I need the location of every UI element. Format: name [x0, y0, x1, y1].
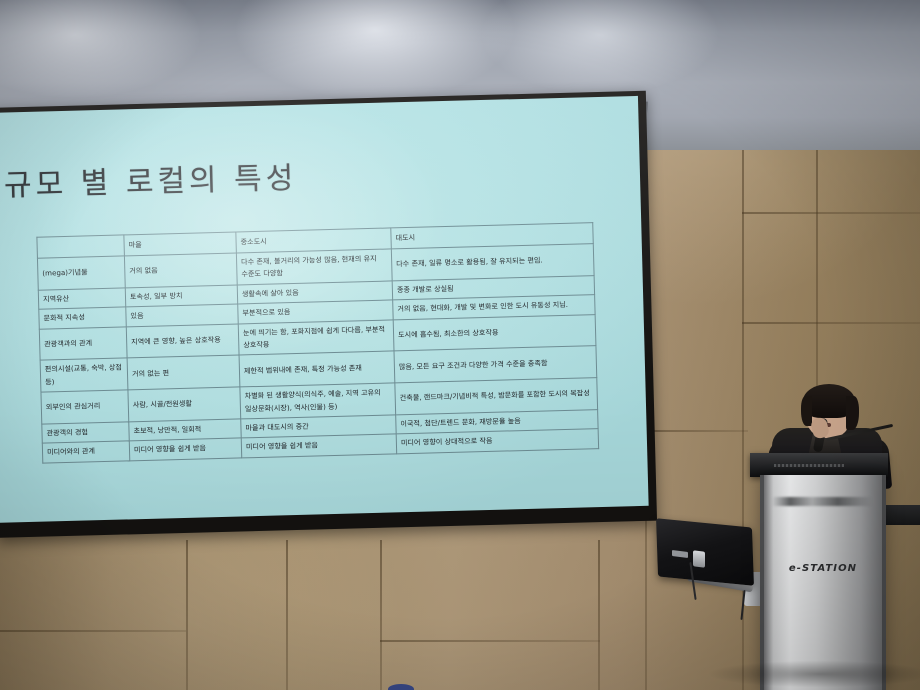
row-label: (mega)기념물	[37, 256, 125, 290]
row-label: 지역유산	[38, 288, 125, 310]
presenter-monitor	[656, 518, 754, 586]
cell-bigcity: 다수 존재, 일류 명소로 활용됨, 잘 유지되는 편임.	[391, 244, 594, 281]
podium-top-surface	[750, 453, 888, 477]
wall-seam	[742, 322, 920, 324]
cell-midcity: 미디어 영향을 쉽게 받음	[241, 434, 396, 457]
foreground-object	[388, 684, 414, 690]
wall-seam	[380, 540, 382, 690]
cell-midcity: 제한적 범위내에 존재, 특정 가능성 존재	[239, 351, 395, 387]
speaker-hair-side	[801, 396, 812, 426]
wall-seam	[0, 630, 186, 632]
cell-bigcity: 도시에 흡수됨, 최소한의 상호작용	[393, 314, 596, 351]
row-label: 미디어와의 관계	[42, 441, 129, 463]
cell-village: 사람, 시골/전원생활	[128, 387, 241, 422]
podium-reflection	[772, 497, 872, 506]
wall-seam	[742, 212, 920, 214]
cell-bigcity: 건축물, 랜드마크/기념비적 특성, 밤문화를 포함한 도시의 복잡성	[395, 378, 598, 415]
wall-seam	[286, 540, 288, 690]
floor-shadow	[700, 660, 920, 690]
cell-midcity: 눈에 띄기는 함, 포화지점에 쉽게 다다름, 부분적 상호작용	[238, 320, 394, 356]
podium: e-STATION	[760, 475, 886, 690]
cell-village: 지역에 큰 영향, 높은 상호작용	[126, 324, 239, 359]
row-label: 편의시설(교통, 숙박, 상점 등)	[40, 358, 128, 392]
row-label: 관광객과의 관계	[39, 327, 127, 361]
cell-village: 거의 없는 편	[127, 355, 240, 390]
lecture-hall-scene: 규모 별 로컬의 특성 마을 중소도시 대도시 (mega)기념물 거의 없음 …	[0, 0, 920, 690]
speaker-hair-side	[846, 396, 859, 430]
cell-bigcity: 미디어 영향이 상대적으로 작음	[396, 429, 598, 454]
wall-seam	[186, 540, 188, 690]
slide-title: 규모 별 로컬의 특성	[3, 153, 297, 205]
wall-seam	[598, 540, 600, 690]
row-label: 외부인의 관심거리	[41, 390, 129, 424]
monitor-control-box	[693, 550, 705, 567]
slide-table: 마을 중소도시 대도시 (mega)기념물 거의 없음 다수 존재, 볼거리의 …	[36, 222, 599, 463]
podium-top-vent	[774, 464, 844, 467]
row-label: 관광객의 경험	[42, 422, 129, 444]
cell-village: 거의 없음	[124, 253, 237, 288]
podium-brand-label: e-STATION	[764, 563, 882, 574]
header-cell-blank	[37, 235, 125, 258]
cell-bigcity: 많음, 모든 요구 조건과 다양한 가격 수준을 충족함	[394, 346, 597, 383]
wall-seam	[380, 640, 600, 642]
presentation-slide: 규모 별 로컬의 특성 마을 중소도시 대도시 (mega)기념물 거의 없음 …	[0, 96, 649, 523]
header-cell-village: 마을	[124, 232, 237, 256]
projection-screen: 규모 별 로컬의 특성 마을 중소도시 대도시 (mega)기념물 거의 없음 …	[0, 91, 657, 538]
cell-midcity: 차별화 된 생활양식(의식주, 예술, 지역 고유의 일상문화(시장), 역사(…	[240, 383, 396, 419]
row-label: 문화적 지속성	[39, 307, 126, 329]
wall-seam	[648, 430, 748, 432]
cell-midcity: 다수 존재, 볼거리의 가능성 많음, 현재의 유지 수준도 다양함	[236, 249, 392, 285]
cell-village: 미디어 영향을 쉽게 받음	[129, 438, 241, 460]
